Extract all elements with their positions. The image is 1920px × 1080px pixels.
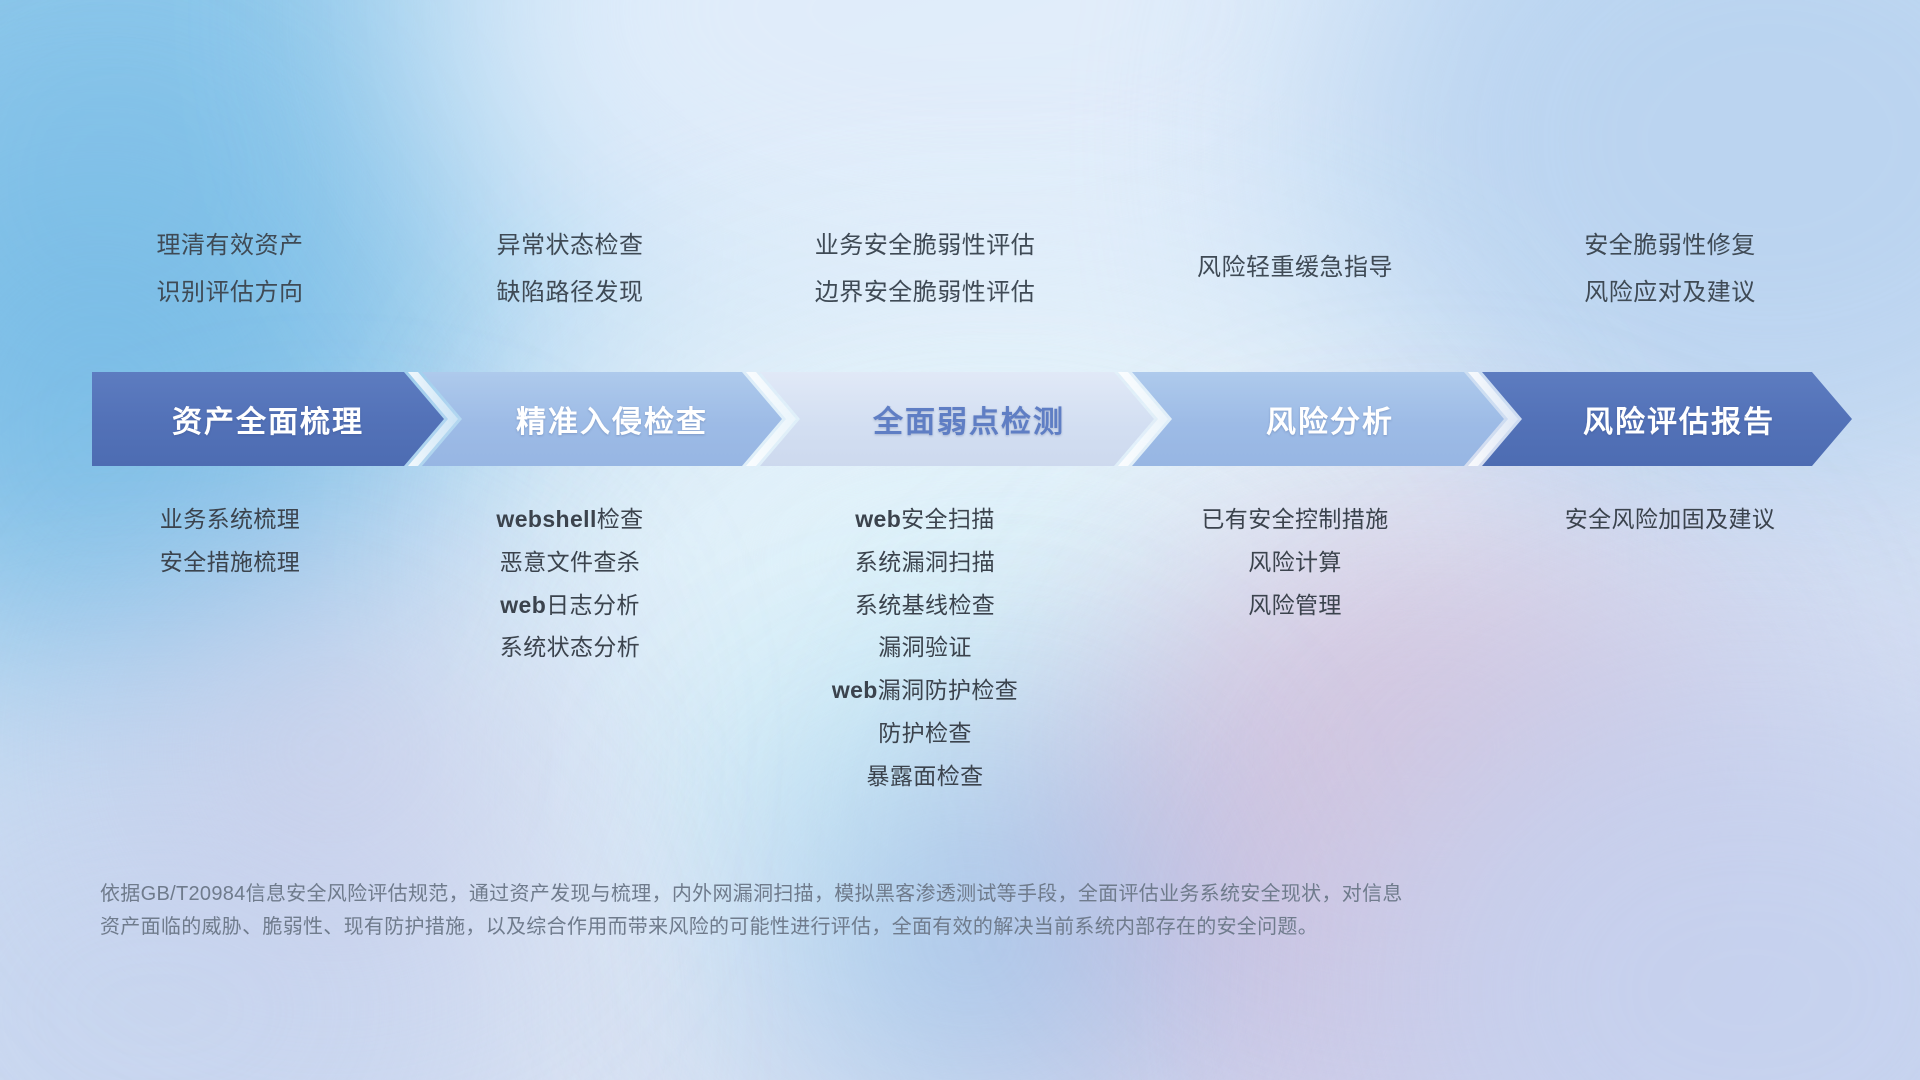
- list-item: 风险管理: [1248, 591, 1342, 620]
- items-intrusion-check: webshell检查 恶意文件查杀 web日志分析 系统状态分析: [400, 505, 740, 662]
- arrow-label-weakness-detection[interactable]: 全面弱点检测: [784, 372, 1154, 466]
- list-item: 漏洞验证: [878, 633, 972, 662]
- top-captions-risk-report: 安全脆弱性修复 风险应对及建议: [1480, 232, 1860, 308]
- list-item: 系统漏洞扫描: [855, 548, 995, 577]
- items-weakness-detection: web安全扫描 系统漏洞扫描 系统基线检查 漏洞验证 web漏洞防护检查 防护检…: [740, 505, 1110, 790]
- arrow-label-risk-report[interactable]: 风险评估报告: [1506, 372, 1852, 466]
- footer-line-2: 资产面临的威胁、脆弱性、现有防护措施，以及综合作用而带来风险的可能性进行评估，全…: [100, 911, 1740, 944]
- detail-items-row: 业务系统梳理 安全措施梳理 webshell检查 恶意文件查杀 web日志分析 …: [0, 505, 1920, 835]
- top-caption: 理清有效资产: [157, 232, 304, 261]
- top-caption: 边界安全脆弱性评估: [815, 279, 1036, 308]
- arrow-label-risk-analysis[interactable]: 风险分析: [1156, 372, 1504, 466]
- top-captions-weakness-detection: 业务安全脆弱性评估 边界安全脆弱性评估: [740, 232, 1110, 308]
- slide-canvas: 理清有效资产 识别评估方向 异常状态检查 缺陷路径发现 业务安全脆弱性评估 边界…: [0, 0, 1920, 1080]
- list-item: web日志分析: [500, 591, 640, 620]
- list-item: 防护检查: [878, 719, 972, 748]
- arrow-label-asset-inventory[interactable]: 资产全面梳理: [92, 372, 444, 466]
- process-arrow-band: 资产全面梳理 精准入侵检查 全面弱点检测 风险分析 风险评估报告: [92, 372, 1852, 466]
- items-asset-inventory: 业务系统梳理 安全措施梳理: [60, 505, 400, 577]
- list-item: 恶意文件查杀: [500, 548, 640, 577]
- list-item: 暴露面检查: [867, 762, 984, 791]
- top-caption: 安全脆弱性修复: [1584, 232, 1756, 261]
- list-item: 系统状态分析: [500, 633, 640, 662]
- top-caption: 业务安全脆弱性评估: [815, 232, 1036, 261]
- items-risk-analysis: 已有安全控制措施 风险计算 风险管理: [1110, 505, 1480, 619]
- list-item: web漏洞防护检查: [832, 676, 1018, 705]
- top-captions-risk-analysis: 风险轻重缓急指导: [1110, 232, 1480, 283]
- list-item: 安全措施梳理: [160, 548, 300, 577]
- top-captions-asset-inventory: 理清有效资产 识别评估方向: [60, 232, 400, 308]
- list-item: webshell检查: [496, 505, 643, 534]
- footer-line-1: 依据GB/T20984信息安全风险评估规范，通过资产发现与梳理，内外网漏洞扫描，…: [100, 878, 1740, 911]
- list-item: 系统基线检查: [855, 591, 995, 620]
- top-caption: 异常状态检查: [497, 232, 644, 261]
- list-item: 业务系统梳理: [160, 505, 300, 534]
- top-caption: 识别评估方向: [157, 279, 304, 308]
- list-item: 已有安全控制措施: [1201, 505, 1388, 534]
- top-captions-row: 理清有效资产 识别评估方向 异常状态检查 缺陷路径发现 业务安全脆弱性评估 边界…: [0, 232, 1920, 342]
- top-captions-intrusion-check: 异常状态检查 缺陷路径发现: [400, 232, 740, 308]
- top-caption: 风险应对及建议: [1584, 279, 1756, 308]
- list-item: web安全扫描: [855, 505, 995, 534]
- footer-description: 依据GB/T20984信息安全风险评估规范，通过资产发现与梳理，内外网漏洞扫描，…: [100, 878, 1740, 944]
- arrow-label-intrusion-check[interactable]: 精准入侵检查: [442, 372, 782, 466]
- top-caption: 风险轻重缓急指导: [1197, 254, 1393, 283]
- list-item: 风险计算: [1248, 548, 1342, 577]
- items-risk-report: 安全风险加固及建议: [1480, 505, 1860, 534]
- top-caption: 缺陷路径发现: [497, 279, 644, 308]
- list-item: 安全风险加固及建议: [1565, 505, 1776, 534]
